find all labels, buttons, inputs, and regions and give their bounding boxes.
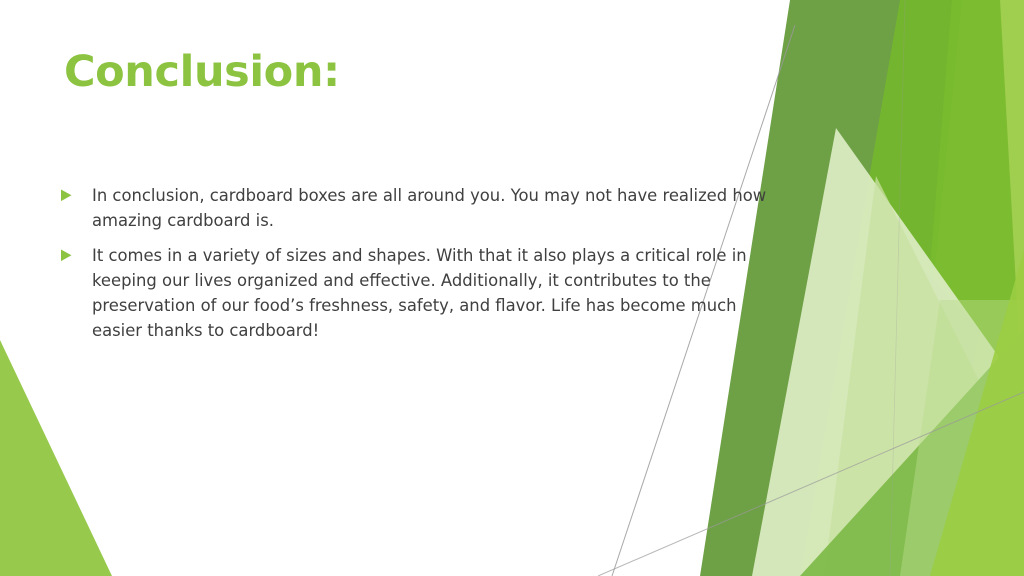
lower-pale-overlay-shape (900, 300, 1024, 576)
bottom-left-wedge-shape (0, 340, 112, 576)
triangle-right-bullet-icon (60, 243, 92, 262)
right-base-bright-shape (786, 0, 1024, 576)
right-light-band-shape (904, 0, 1024, 576)
hairline-diagonal-ascending (598, 392, 1024, 576)
list-item-text: It comes in a variety of sizes and shape… (92, 243, 776, 343)
title-placeholder: Conclusion: (64, 48, 724, 96)
bottom-bright-strip-shape (930, 250, 1024, 576)
presentation-slide: Conclusion: In conclusion, cardboard box… (0, 0, 1024, 576)
hairline-right-vertical-segment (890, 0, 905, 576)
lower-right-green-shape (800, 330, 1024, 576)
list-item: It comes in a variety of sizes and shape… (60, 243, 776, 343)
list-item: In conclusion, cardboard boxes are all a… (60, 183, 776, 233)
pale-green-secondary-shape (824, 176, 1024, 576)
page-title: Conclusion: (64, 48, 724, 96)
mid-bright-green-wedge-shape (800, 0, 1024, 576)
deep-green-overlap-shape (862, 250, 980, 576)
pale-green-sweep-shape (752, 128, 1024, 576)
content-placeholder: In conclusion, cardboard boxes are all a… (60, 183, 776, 343)
list-item-text: In conclusion, cardboard boxes are all a… (92, 183, 776, 233)
triangle-right-bullet-icon (60, 183, 92, 202)
